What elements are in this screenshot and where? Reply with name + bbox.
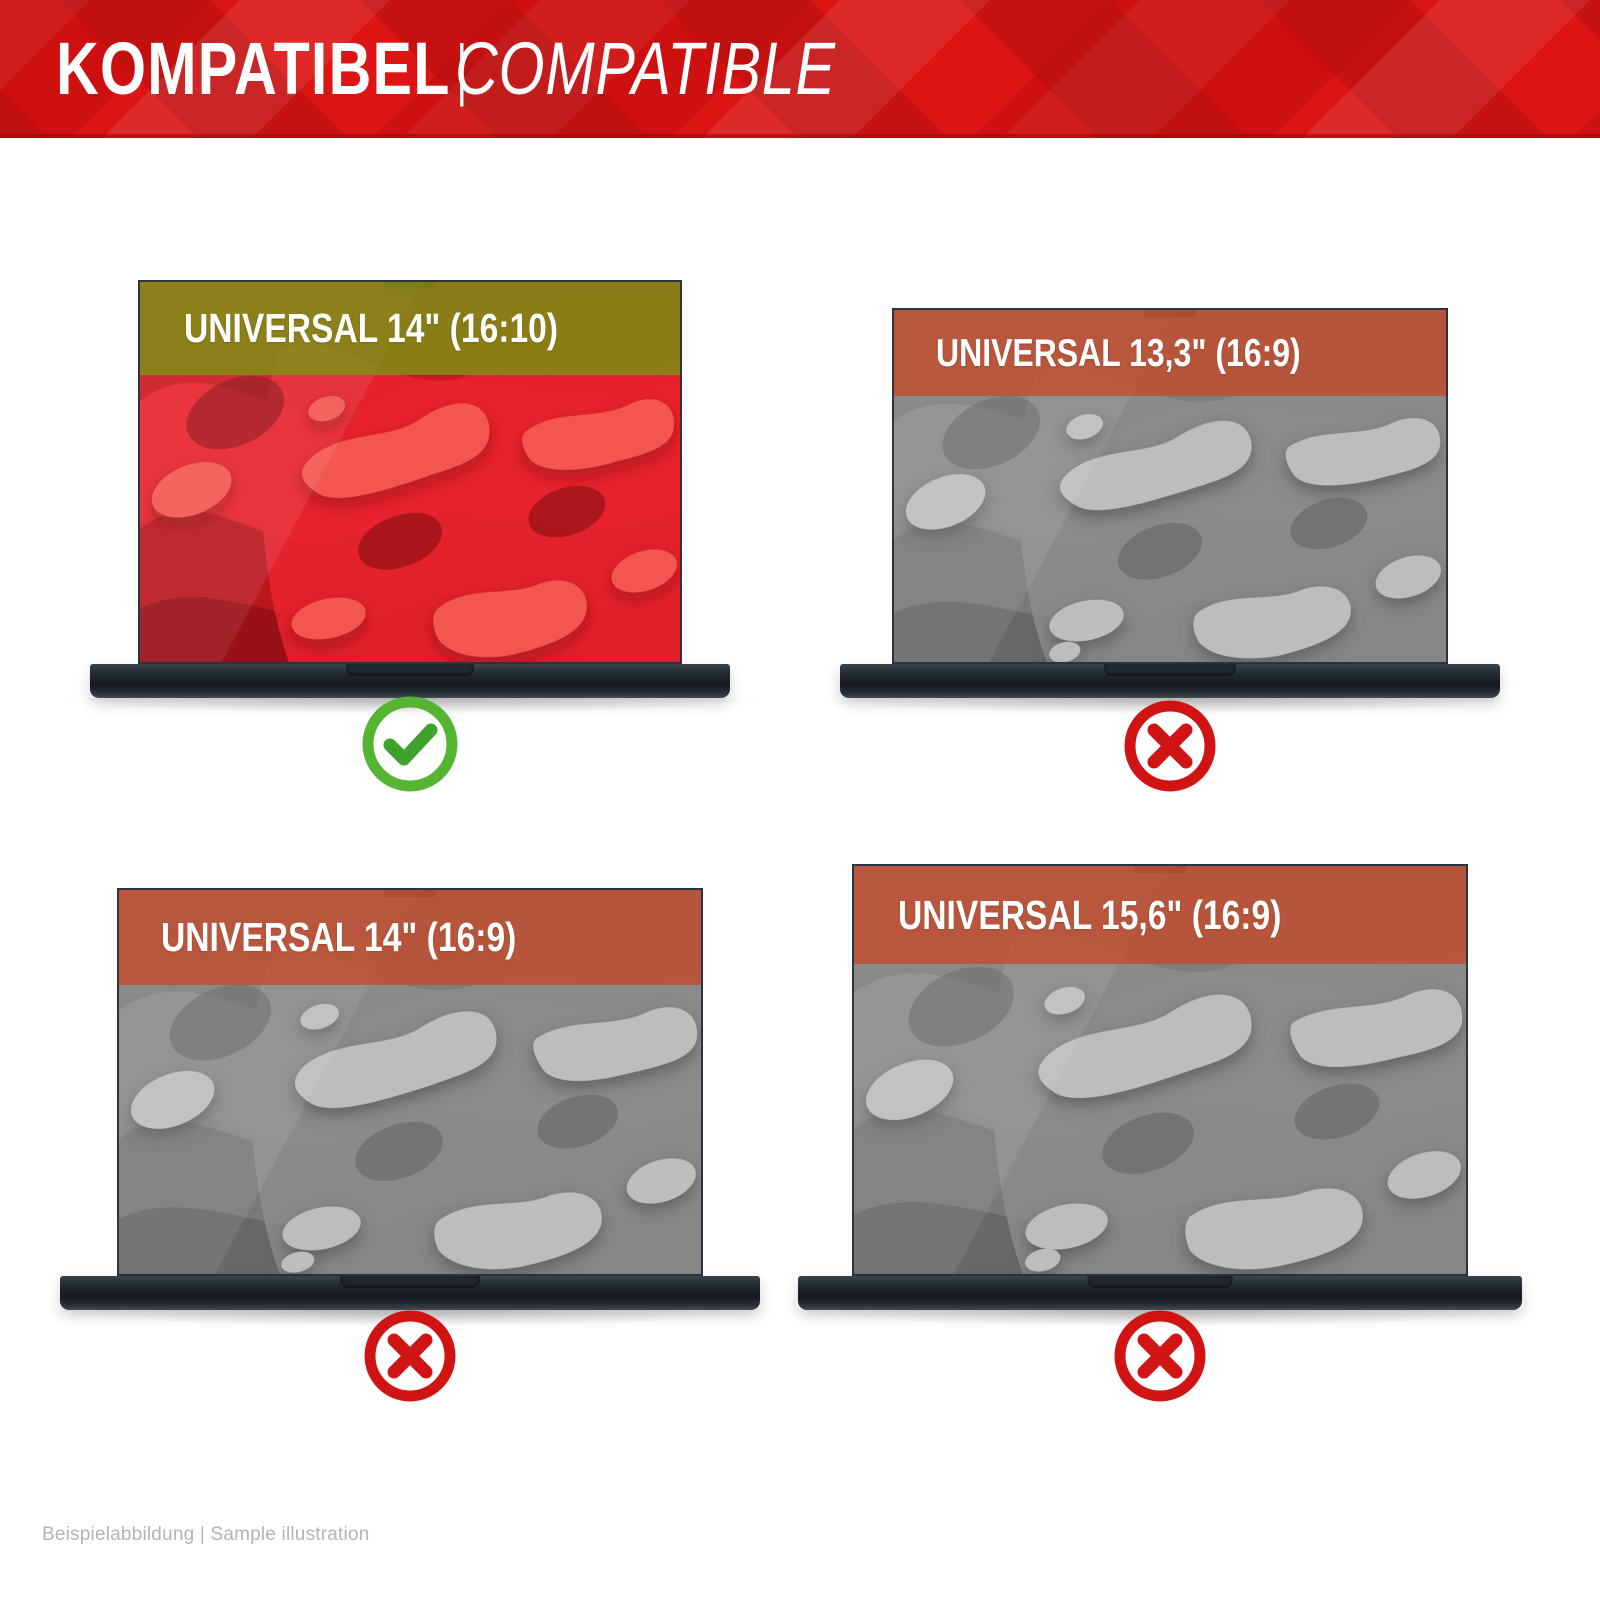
laptop-base xyxy=(60,1276,760,1310)
size-band-label: UNIVERSAL 13,3" (16:9) xyxy=(936,334,1301,373)
laptop-card-universal-13-3-16-9: UNIVERSAL 13,3" (16:9) xyxy=(820,308,1520,716)
laptop-illustration: UNIVERSAL 15,6" (16:9) xyxy=(780,864,1540,1328)
cross-circle-icon xyxy=(1120,696,1220,796)
check-circle-icon xyxy=(358,692,462,796)
size-band-label: UNIVERSAL 15,6" (16:9) xyxy=(898,895,1281,936)
laptop-card-universal-14-16-9: UNIVERSAL 14" (16:9) xyxy=(40,888,780,1328)
laptop-screen: UNIVERSAL 15,6" (16:9) xyxy=(852,864,1468,1276)
laptop-card-universal-15-6-16-9: UNIVERSAL 15,6" (16:9) xyxy=(780,864,1540,1328)
laptop-illustration: UNIVERSAL 14" (16:9) xyxy=(40,888,780,1328)
laptop-screen: UNIVERSAL 14" (16:10) xyxy=(138,280,682,664)
laptop-card-universal-14-16-10: UNIVERSAL 14" (16:10) xyxy=(60,280,760,716)
footer-note: Beispielabbildung | Sample illustration xyxy=(42,1524,369,1546)
title-english: COMPATIBLE xyxy=(455,32,836,106)
size-band-label: UNIVERSAL 14" (16:9) xyxy=(161,917,516,958)
cross-circle-icon xyxy=(1110,1306,1210,1406)
size-band-universal-13-3-16-9: UNIVERSAL 13,3" (16:9) xyxy=(894,310,1446,396)
status-badge-not-compatible xyxy=(1110,1306,1210,1406)
laptop-base xyxy=(840,664,1500,698)
cross-circle-icon xyxy=(360,1306,460,1406)
banner-bottom-edge xyxy=(0,134,1600,138)
status-badge-compatible xyxy=(358,692,462,796)
size-band-universal-15-6-16-9: UNIVERSAL 15,6" (16:9) xyxy=(854,866,1466,964)
header-banner: KOMPATIBEL|COMPATIBLE xyxy=(0,0,1600,138)
laptop-screen: UNIVERSAL 14" (16:9) xyxy=(117,888,703,1276)
laptop-screen: UNIVERSAL 13,3" (16:9) xyxy=(892,308,1448,664)
status-badge-not-compatible xyxy=(1120,696,1220,796)
size-band-universal-14-16-10: UNIVERSAL 14" (16:10) xyxy=(140,282,680,375)
status-badge-not-compatible xyxy=(360,1306,460,1406)
laptop-base xyxy=(798,1276,1522,1310)
laptop-illustration: UNIVERSAL 13,3" (16:9) xyxy=(820,308,1520,716)
size-band-universal-14-16-9: UNIVERSAL 14" (16:9) xyxy=(119,890,701,985)
laptop-illustration: UNIVERSAL 14" (16:10) xyxy=(60,280,760,716)
title-german: KOMPATIBEL xyxy=(56,32,451,106)
page-title: KOMPATIBEL|COMPATIBLE xyxy=(56,32,931,106)
size-band-label: UNIVERSAL 14" (16:10) xyxy=(184,308,558,349)
